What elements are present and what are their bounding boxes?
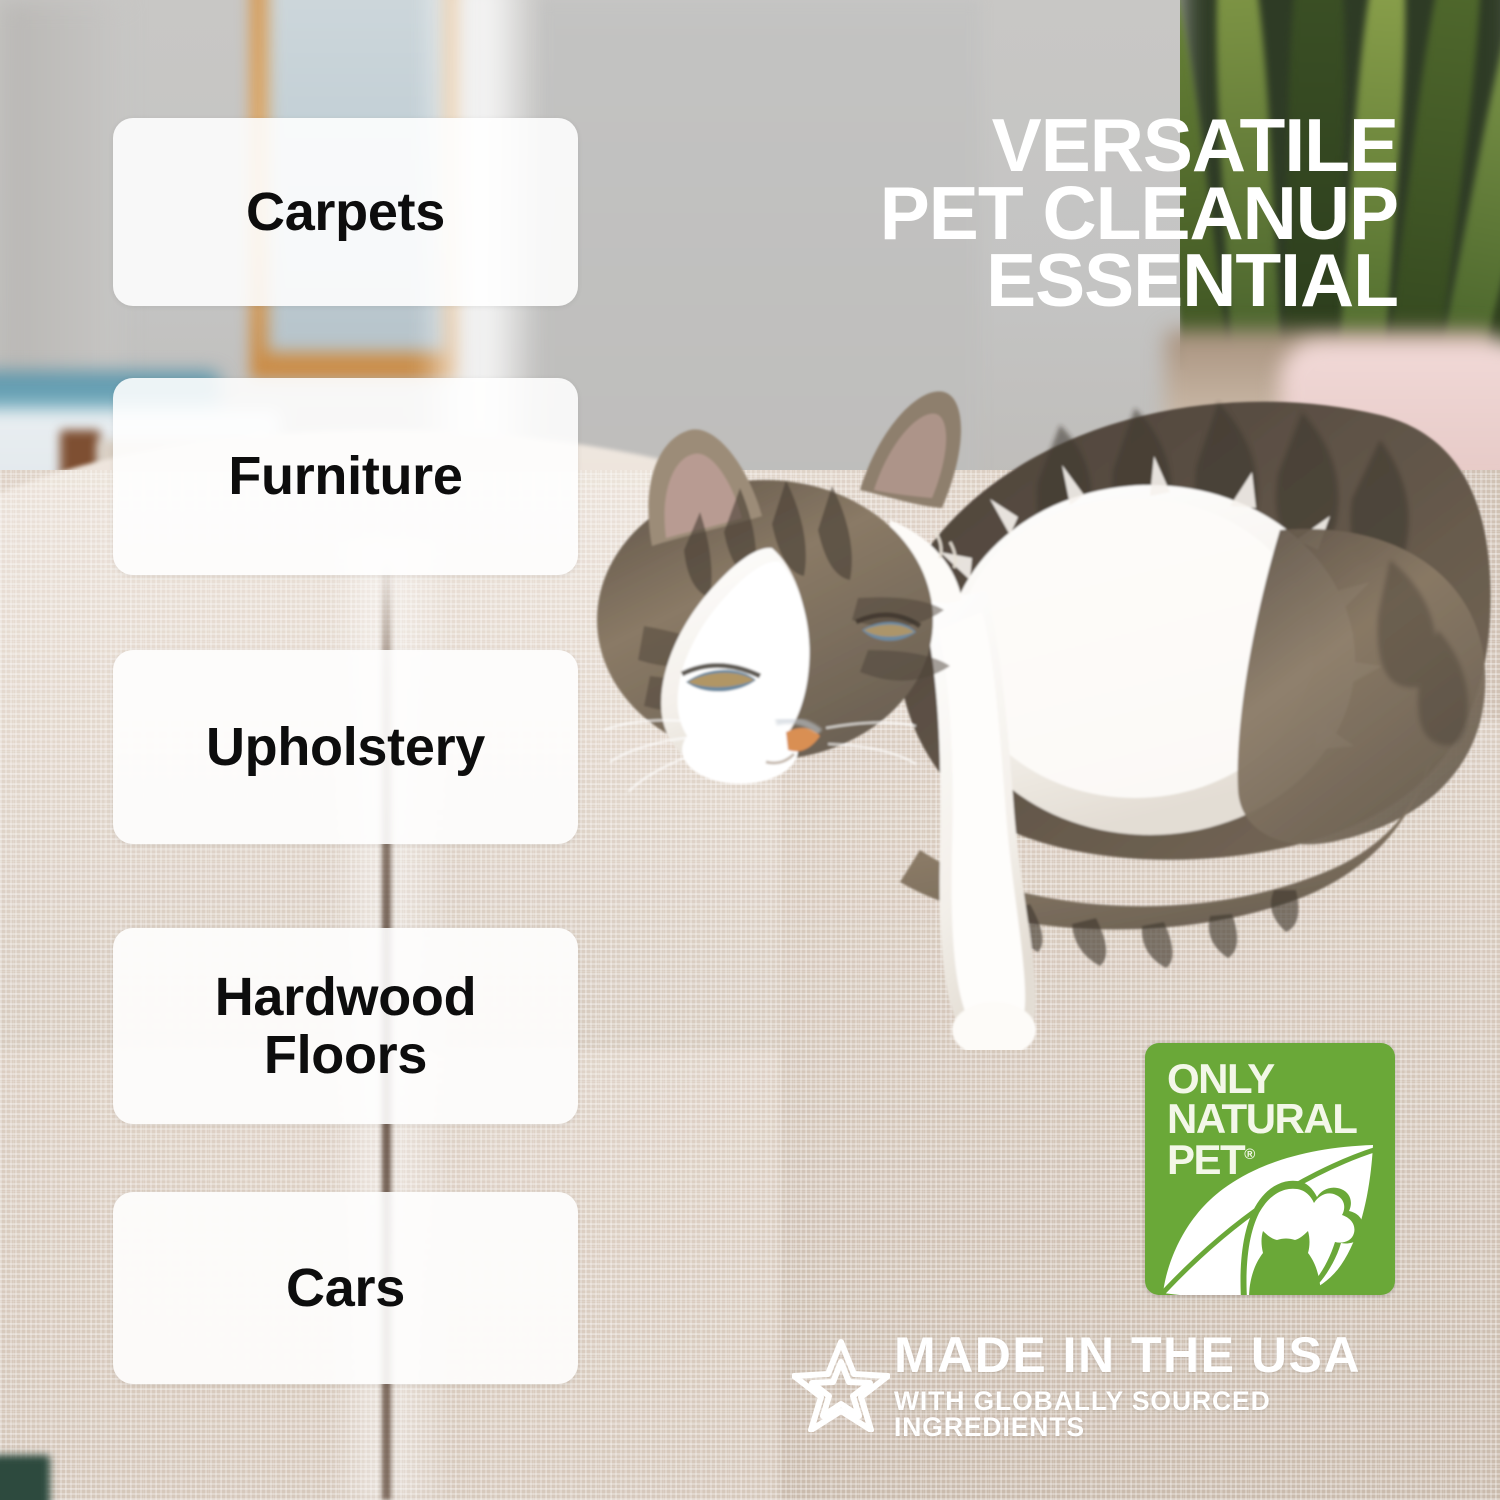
brand-logo-line-2: NATURAL — [1167, 1099, 1356, 1139]
brand-logo: ONLY NATURAL PET® — [1145, 1043, 1395, 1295]
leaf-with-dog-and-cat-icon — [1145, 1141, 1395, 1295]
product-infographic: Carpets Furniture Upholstery Hardwood Fl… — [0, 0, 1500, 1500]
surface-pill-label: Upholstery — [206, 718, 485, 776]
surface-pill-furniture[interactable]: Furniture — [113, 378, 578, 575]
surface-pill-upholstery[interactable]: Upholstery — [113, 650, 578, 844]
surface-pill-hardwood-floors[interactable]: Hardwood Floors — [113, 928, 578, 1124]
green-decor-corner — [0, 1455, 50, 1500]
surface-pill-label-line1: Hardwood — [215, 967, 477, 1027]
headline-line-2: PET CLEANUP — [758, 180, 1398, 248]
surface-pill-label: Hardwood Floors — [215, 968, 477, 1085]
headline: VERSATILE PET CLEANUP ESSENTIAL — [758, 112, 1398, 315]
made-in-usa-badge: MADE IN THE USA WITH GLOBALLY SOURCED IN… — [792, 1330, 1412, 1440]
surface-pill-label: Carpets — [246, 183, 445, 241]
surface-pill-cars[interactable]: Cars — [113, 1192, 578, 1384]
made-in-usa-text: MADE IN THE USA WITH GLOBALLY SOURCED IN… — [894, 1330, 1412, 1441]
surface-pill-label-line2: Floors — [264, 1025, 427, 1085]
surface-pill-label: Furniture — [228, 447, 462, 505]
made-in-usa-subline: WITH GLOBALLY SOURCED INGREDIENTS — [894, 1388, 1412, 1441]
headline-line-1: VERSATILE — [758, 112, 1398, 180]
brand-logo-line-1: ONLY — [1167, 1059, 1356, 1099]
surface-pill-label: Cars — [286, 1259, 405, 1317]
cat-photo-subject — [590, 330, 1500, 1050]
made-in-usa-headline: MADE IN THE USA — [894, 1330, 1412, 1380]
surface-pill-carpets[interactable]: Carpets — [113, 118, 578, 306]
double-outline-star-icon — [792, 1338, 890, 1432]
headline-line-3: ESSENTIAL — [758, 247, 1398, 315]
